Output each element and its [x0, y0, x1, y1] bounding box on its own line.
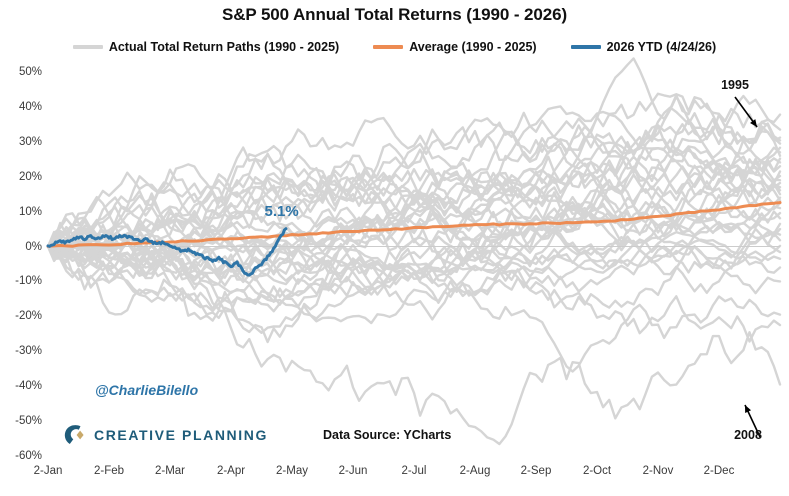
y-axis-tick-label: 30% [0, 136, 42, 148]
annotation-worst-year: 2008 [734, 428, 762, 442]
x-axis-tick-label: 2-Jun [339, 465, 368, 477]
plot-svg [0, 0, 789, 496]
x-axis-tick-label: 2-Sep [521, 465, 552, 477]
y-axis-tick-label: -20% [0, 310, 42, 322]
y-axis-tick-label: -10% [0, 275, 42, 287]
x-axis-tick-label: 2-Feb [94, 465, 124, 477]
y-axis-tick-label: -60% [0, 450, 42, 462]
x-axis-tick-label: 2-Nov [643, 465, 674, 477]
x-axis-tick-label: 2-Jul [402, 465, 427, 477]
data-source-note: Data Source: YCharts [323, 428, 451, 442]
x-axis-tick-label: 2-Aug [460, 465, 491, 477]
ytd-value-label: 5.1% [265, 203, 299, 220]
x-axis-tick-label: 2-Mar [155, 465, 185, 477]
y-axis-tick-label: -50% [0, 415, 42, 427]
chart-root: S&P 500 Annual Total Returns (1990 - 202… [0, 0, 789, 496]
creative-planning-logo: CREATIVE PLANNING [62, 423, 268, 447]
y-axis-tick-label: 20% [0, 171, 42, 183]
x-axis-tick-label: 2-May [276, 465, 308, 477]
author-handle: @CharlieBilello [95, 382, 198, 398]
y-axis-tick-label: 50% [0, 66, 42, 78]
x-axis-tick-label: 2-Oct [583, 465, 611, 477]
plot-area [0, 0, 789, 496]
x-axis-tick-label: 2-Dec [704, 465, 735, 477]
x-axis-tick-label: 2-Apr [217, 465, 245, 477]
y-axis-tick-label: 40% [0, 101, 42, 113]
y-axis-tick-label: 0% [0, 241, 42, 253]
x-axis-tick-label: 2-Jan [34, 465, 63, 477]
y-axis-tick-label: 10% [0, 206, 42, 218]
return-path [48, 232, 780, 332]
y-axis-tick-label: -30% [0, 345, 42, 357]
creative-planning-mark-icon [62, 423, 86, 447]
brand-name: CREATIVE PLANNING [94, 427, 268, 443]
y-axis-tick-label: -40% [0, 380, 42, 392]
annotation-best-year: 1995 [721, 78, 749, 92]
